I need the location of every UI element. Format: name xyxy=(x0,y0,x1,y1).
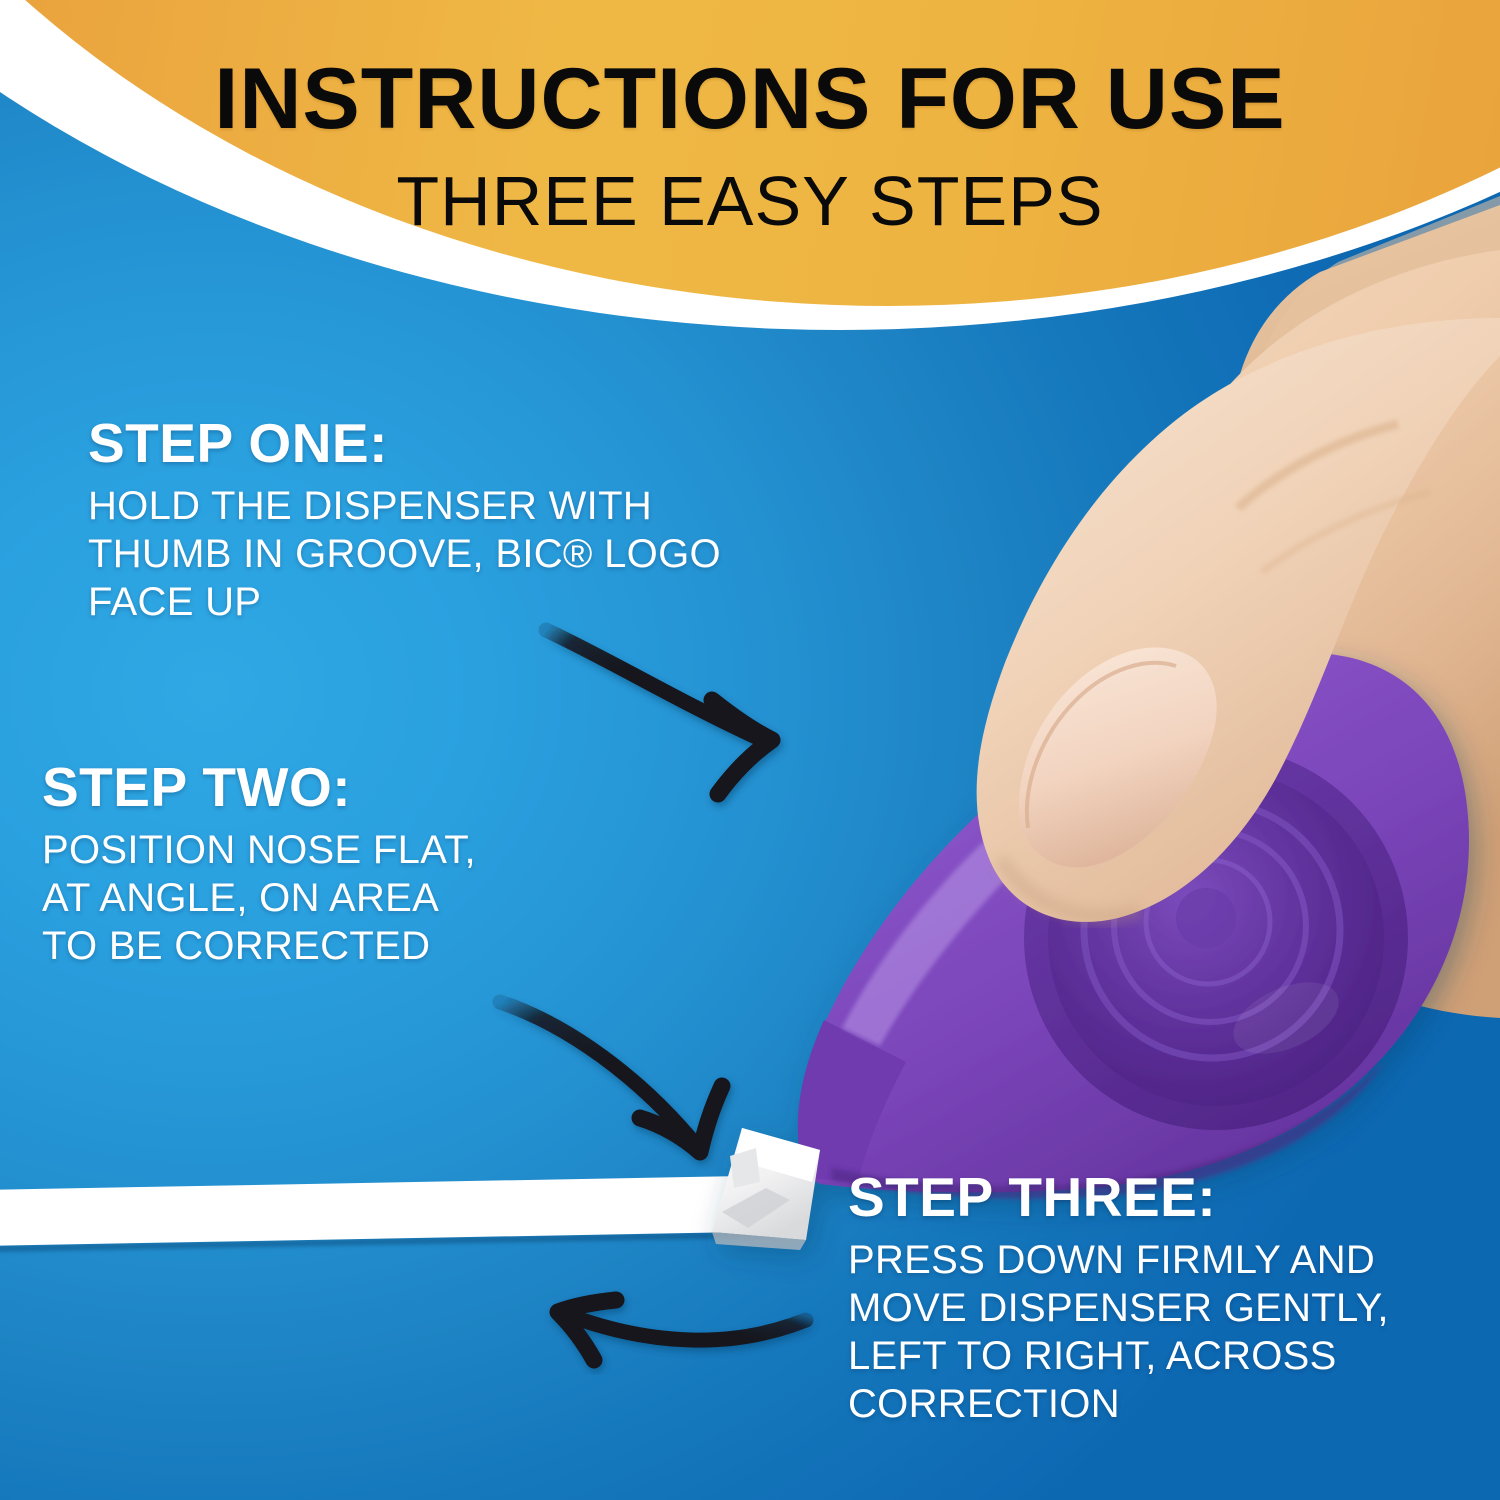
step-three-line-4: CORRECTION xyxy=(848,1380,1488,1428)
page-title: INSTRUCTIONS FOR USE xyxy=(0,56,1500,144)
step-two-heading: STEP TWO: xyxy=(42,758,682,816)
step-one-line-3: FACE UP xyxy=(88,578,848,626)
step-two-line-1: POSITION NOSE FLAT, xyxy=(42,826,682,874)
instructions-poster: INSTRUCTIONS FOR USE THREE EASY STEPS xyxy=(0,0,1500,1500)
step-three-line-2: MOVE DISPENSER GENTLY, xyxy=(848,1284,1488,1332)
step-two-line-3: TO BE CORRECTED xyxy=(42,922,682,970)
step-two-block: STEP TWO: POSITION NOSE FLAT, AT ANGLE, … xyxy=(42,758,682,970)
step-three-line-3: LEFT TO RIGHT, ACROSS xyxy=(848,1332,1488,1380)
title-block: INSTRUCTIONS FOR USE THREE EASY STEPS xyxy=(0,56,1500,237)
step-three-heading: STEP THREE: xyxy=(848,1168,1488,1226)
step-two-line-2: AT ANGLE, ON AREA xyxy=(42,874,682,922)
step-one-line-2: THUMB IN GROOVE, BIC® LOGO xyxy=(88,530,848,578)
step-three-block: STEP THREE: PRESS DOWN FIRMLY AND MOVE D… xyxy=(848,1168,1488,1428)
step-one-body: HOLD THE DISPENSER WITH THUMB IN GROOVE,… xyxy=(88,482,848,626)
step-one-block: STEP ONE: HOLD THE DISPENSER WITH THUMB … xyxy=(88,414,848,626)
step-three-line-1: PRESS DOWN FIRMLY AND xyxy=(848,1236,1488,1284)
step-one-heading: STEP ONE: xyxy=(88,414,848,472)
step-one-line-1: HOLD THE DISPENSER WITH xyxy=(88,482,848,530)
step-three-body: PRESS DOWN FIRMLY AND MOVE DISPENSER GEN… xyxy=(848,1236,1488,1428)
step-two-body: POSITION NOSE FLAT, AT ANGLE, ON AREA TO… xyxy=(42,826,682,970)
page-subtitle: THREE EASY STEPS xyxy=(0,166,1500,237)
